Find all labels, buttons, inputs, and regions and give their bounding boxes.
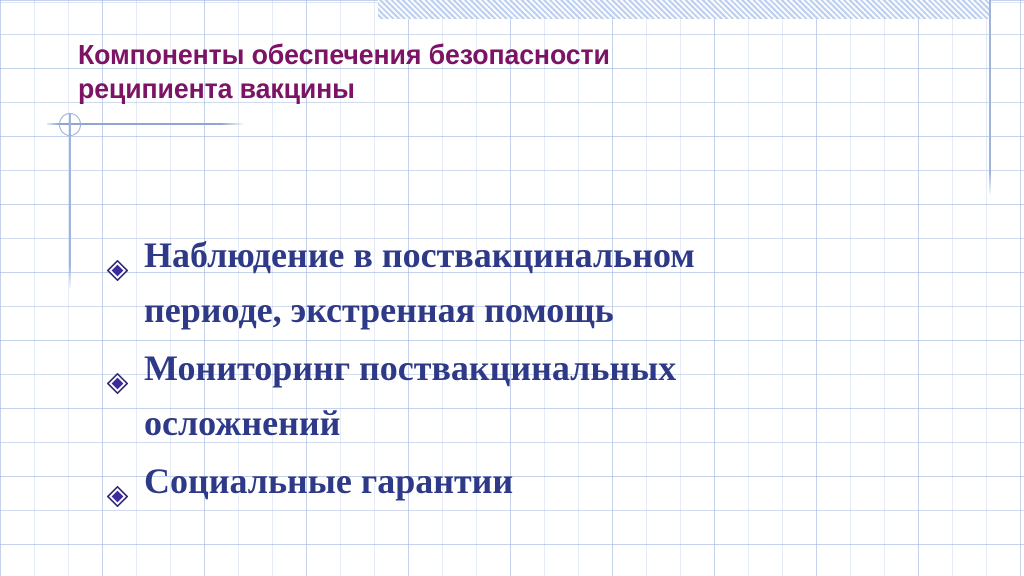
bullet-item-2-text: Мониторинг поствакцинальных осложнений [144, 341, 984, 451]
diamond-bullet-icon [107, 468, 128, 489]
bullet-item-2-line-2: осложнений [144, 396, 984, 451]
slide-title-line-2: реципиента вакцины [78, 72, 844, 106]
bullet-item-2-line-1: Мониторинг поствакцинальных [144, 341, 984, 396]
bullet-item-3-text: Социальные гарантии [144, 454, 984, 509]
accent-vertical-line [69, 114, 71, 290]
diamond-bullet-icon [107, 242, 128, 263]
slide-title: Компоненты обеспечения безопасности реци… [78, 38, 844, 106]
bullet-item-1-line-1: Наблюдение в поствакцинальном [144, 228, 984, 283]
slide-canvas: Компоненты обеспечения безопасности реци… [0, 0, 1024, 576]
bullet-item-3-line-1: Социальные гарантии [144, 454, 984, 509]
bullet-item-2: Мониторинг поствакцинальных осложнений [104, 341, 984, 451]
bullet-item-3: Социальные гарантии [104, 454, 984, 509]
top-hatched-band [378, 0, 990, 19]
bullet-list: Наблюдение в поствакцинальном периоде, э… [104, 228, 984, 512]
slide-title-line-1: Компоненты обеспечения безопасности [78, 38, 844, 72]
bullet-item-1-line-2: периоде, экстренная помощь [144, 283, 984, 338]
accent-circle-icon [59, 113, 81, 136]
bullet-item-1-text: Наблюдение в поствакцинальном периоде, э… [144, 228, 984, 338]
right-vertical-rule [989, 0, 991, 196]
diamond-bullet-icon [107, 355, 128, 376]
bullet-item-1: Наблюдение в поствакцинальном периоде, э… [104, 228, 984, 338]
